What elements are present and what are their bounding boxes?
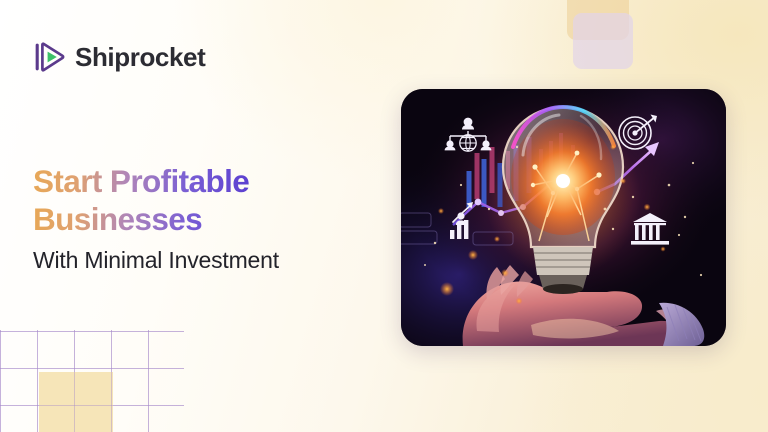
brand-logo[interactable]: Shiprocket: [34, 40, 205, 74]
headline-line-2: Businesses: [33, 200, 383, 238]
promo-banner: Shiprocket Start Profitable Businesses W…: [0, 0, 768, 432]
headline-block: Start Profitable Businesses With Minimal…: [33, 162, 383, 274]
headline-line-1: Start Profitable: [33, 162, 383, 200]
subheadline: With Minimal Investment: [33, 246, 383, 274]
decor-square-lilac: [573, 13, 633, 69]
shiprocket-play-logo-icon: [34, 40, 68, 74]
hero-illustration: [401, 89, 726, 346]
decor-grid-overlay: [0, 330, 184, 432]
hero-image-card: [401, 89, 726, 346]
brand-wordmark: Shiprocket: [75, 44, 205, 70]
